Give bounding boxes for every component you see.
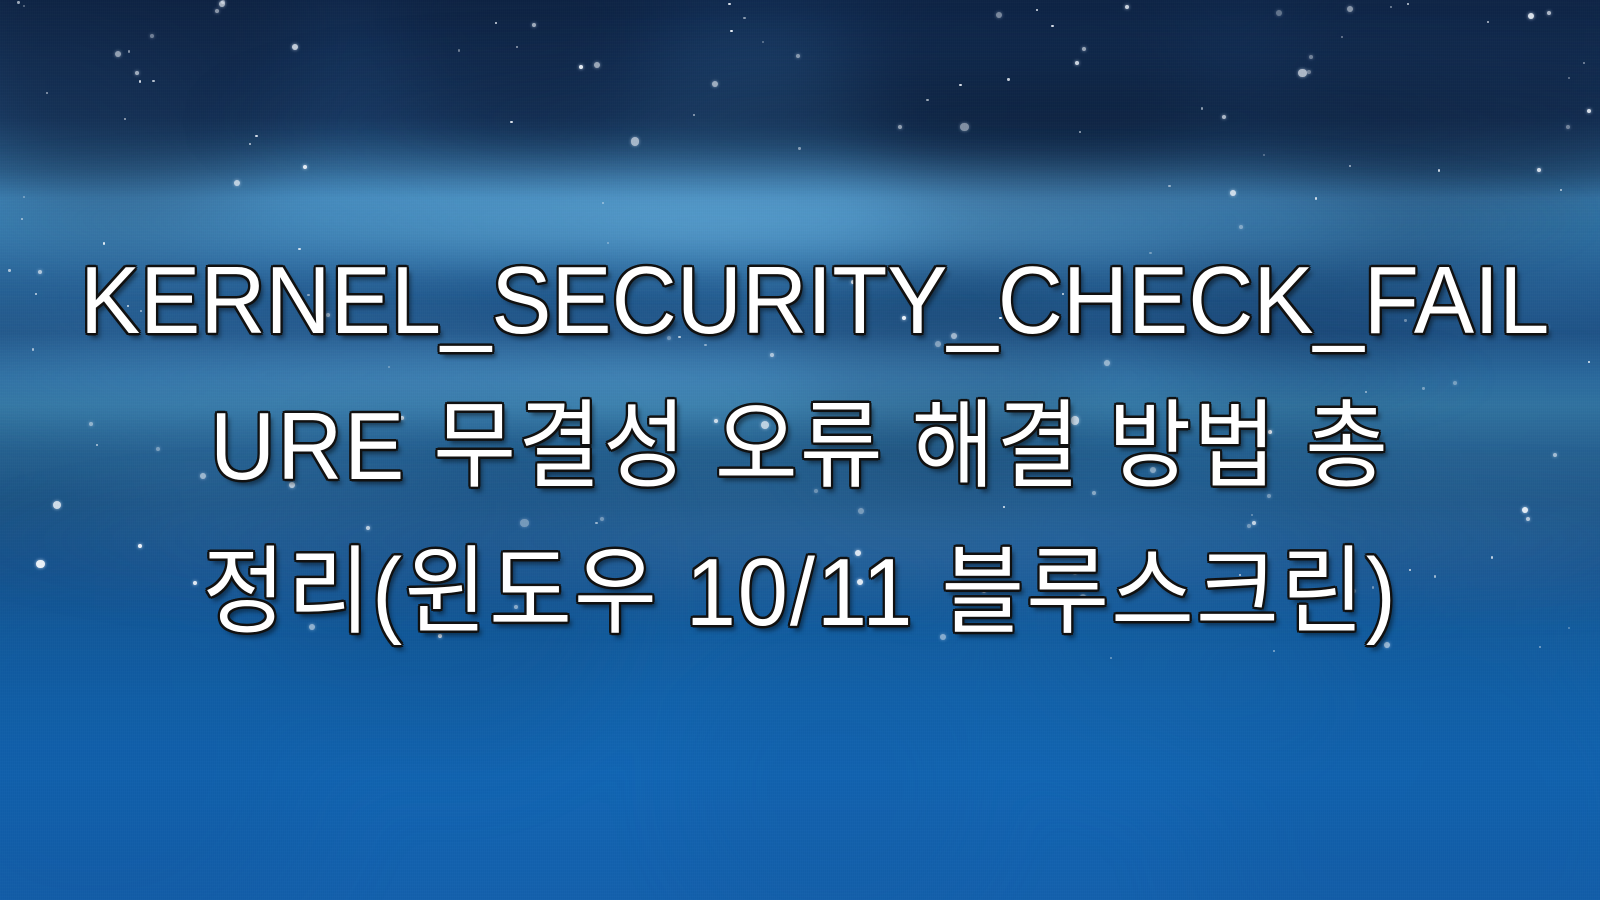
thumbnail-canvas: KERNEL_SECURITY_CHECK_FAIL URE 무결성 오류 해결… [0,0,1600,900]
headline-block: KERNEL_SECURITY_CHECK_FAIL URE 무결성 오류 해결… [0,228,1600,666]
headline-line-3: 정리(윈도우 10/11 블루스크린) [80,520,1520,666]
headline-line-1: KERNEL_SECURITY_CHECK_FAIL [80,228,1520,374]
headline-line-2: URE 무결성 오류 해결 방법 총 [80,374,1520,520]
